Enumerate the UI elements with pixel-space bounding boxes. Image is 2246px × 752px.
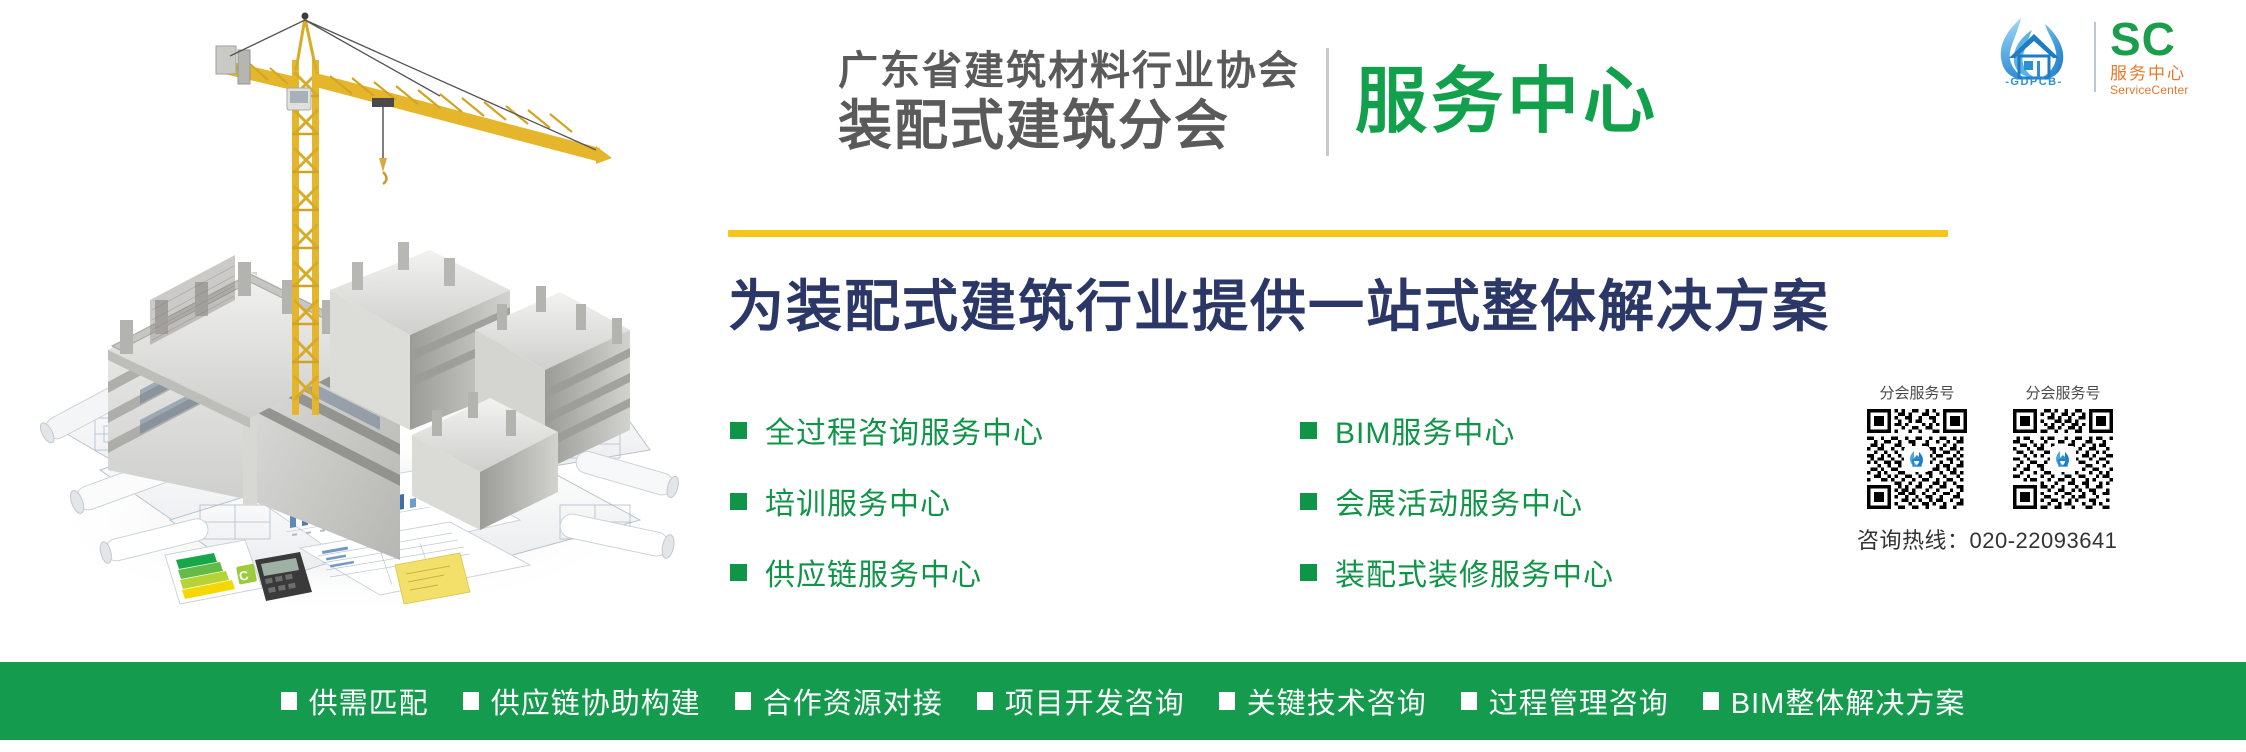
logo-chinese-text: 服务中心 <box>2110 65 2186 82</box>
bottom-bar-item[interactable]: 供应链协助构建 <box>463 680 701 722</box>
qr-code-block: 分会服务号 <box>1855 382 2185 555</box>
hotline-text: 咨询热线：020-22093641 <box>1855 523 2185 555</box>
title-vertical-divider <box>1326 48 1329 156</box>
service-item[interactable]: 供应链服务中心 <box>730 550 1300 594</box>
square-bullet-icon <box>735 692 751 710</box>
service-item-label: 培训服务中心 <box>765 479 951 523</box>
square-bullet-icon <box>730 493 747 510</box>
square-bullet-icon <box>281 692 297 710</box>
square-bullet-icon <box>977 692 993 710</box>
square-bullet-icon <box>1461 692 1477 710</box>
square-bullet-icon <box>730 564 747 581</box>
bottom-bar-label: 供需匹配 <box>309 680 429 722</box>
service-column-left: 全过程咨询服务中心 培训服务中心 供应链服务中心 <box>730 408 1300 594</box>
qr-caption-1: 分会服务号 <box>1879 382 1954 403</box>
title-gray-block: 广东省建筑材料行业协会 装配式建筑分会 <box>838 51 1300 153</box>
bottom-service-bar: 供需匹配 供应链协助构建 合作资源对接 项目开发咨询 关键技术咨询 过程管理咨询… <box>0 662 2246 740</box>
square-bullet-icon <box>1219 692 1235 710</box>
service-column-right: BIM服务中心 会展活动服务中心 装配式装修服务中心 <box>1300 408 1614 594</box>
qr-center-logo-icon <box>1904 446 1930 472</box>
bottom-bar-item[interactable]: 项目开发咨询 <box>977 680 1185 722</box>
qr-code-row: 分会服务号 <box>1855 382 2185 509</box>
qr-code-image-1[interactable] <box>1867 409 1967 509</box>
bottom-bar-item[interactable]: BIM整体解决方案 <box>1703 680 1966 722</box>
bottom-bar-item[interactable]: 合作资源对接 <box>735 680 943 722</box>
gdpcb-house-flame-icon: -GDPCB- <box>1988 14 2080 100</box>
bottom-bar-label: 关键技术咨询 <box>1247 680 1427 722</box>
logo-english-text: ServiceCenter <box>2110 84 2189 96</box>
service-item-label: 装配式装修服务中心 <box>1335 550 1614 594</box>
logo-sc-text: SC <box>2110 18 2176 62</box>
service-item-label: 会展活动服务中心 <box>1335 479 1583 523</box>
qr-code-image-2[interactable] <box>2013 409 2113 509</box>
service-item-label: 全过程咨询服务中心 <box>765 408 1044 452</box>
bottom-bar-label: 过程管理咨询 <box>1489 680 1669 722</box>
brand-logo: -GDPCB- SC 服务中心 ServiceCenter <box>1988 14 2189 100</box>
bottom-bar-label: 供应链协助构建 <box>491 680 701 722</box>
bottom-bar-item[interactable]: 关键技术咨询 <box>1219 680 1427 722</box>
page-title-service-center: 服务中心 <box>1355 66 1659 138</box>
square-bullet-icon <box>1300 422 1317 439</box>
service-item-label: BIM服务中心 <box>1335 408 1515 452</box>
logo-divider <box>2094 22 2096 92</box>
square-bullet-icon <box>1300 493 1317 510</box>
service-item[interactable]: 培训服务中心 <box>730 479 1300 523</box>
promo-banner: C <box>0 0 2246 752</box>
service-center-list: 全过程咨询服务中心 培训服务中心 供应链服务中心 BIM服务中心 会展活动服务中… <box>730 408 1614 594</box>
logo-mark-caption: -GDPCB- <box>2005 76 2063 88</box>
square-bullet-icon <box>730 422 747 439</box>
service-item-label: 供应链服务中心 <box>765 550 982 594</box>
service-item[interactable]: BIM服务中心 <box>1300 408 1614 452</box>
square-bullet-icon <box>1300 564 1317 581</box>
gold-divider-rule <box>728 230 1948 237</box>
bottom-bar-label: BIM整体解决方案 <box>1731 680 1966 722</box>
service-item[interactable]: 装配式装修服务中心 <box>1300 550 1614 594</box>
logo-wordmark: SC 服务中心 ServiceCenter <box>2110 18 2189 97</box>
banner-slogan: 为装配式建筑行业提供一站式整体解决方案 <box>728 262 1830 343</box>
qr-code-cell-2: 分会服务号 <box>2001 382 2125 509</box>
bottom-bar-item[interactable]: 过程管理咨询 <box>1461 680 1669 722</box>
bottom-bar-label: 合作资源对接 <box>763 680 943 722</box>
bottom-bar-label: 项目开发咨询 <box>1005 680 1185 722</box>
square-bullet-icon <box>1703 692 1719 710</box>
qr-code-cell-1: 分会服务号 <box>1855 382 1979 509</box>
qr-caption-2: 分会服务号 <box>2025 382 2100 403</box>
service-item[interactable]: 会展活动服务中心 <box>1300 479 1614 523</box>
qr-center-logo-icon <box>2050 446 2076 472</box>
square-bullet-icon <box>463 692 479 710</box>
page-title-line2: 装配式建筑分会 <box>838 99 1300 153</box>
banner-title: 广东省建筑材料行业协会 装配式建筑分会 服务中心 <box>838 48 1659 156</box>
bottom-bar-item[interactable]: 供需匹配 <box>281 680 429 722</box>
page-title-line1: 广东省建筑材料行业协会 <box>838 51 1300 91</box>
service-item[interactable]: 全过程咨询服务中心 <box>730 408 1300 452</box>
construction-photo: C <box>0 0 690 630</box>
